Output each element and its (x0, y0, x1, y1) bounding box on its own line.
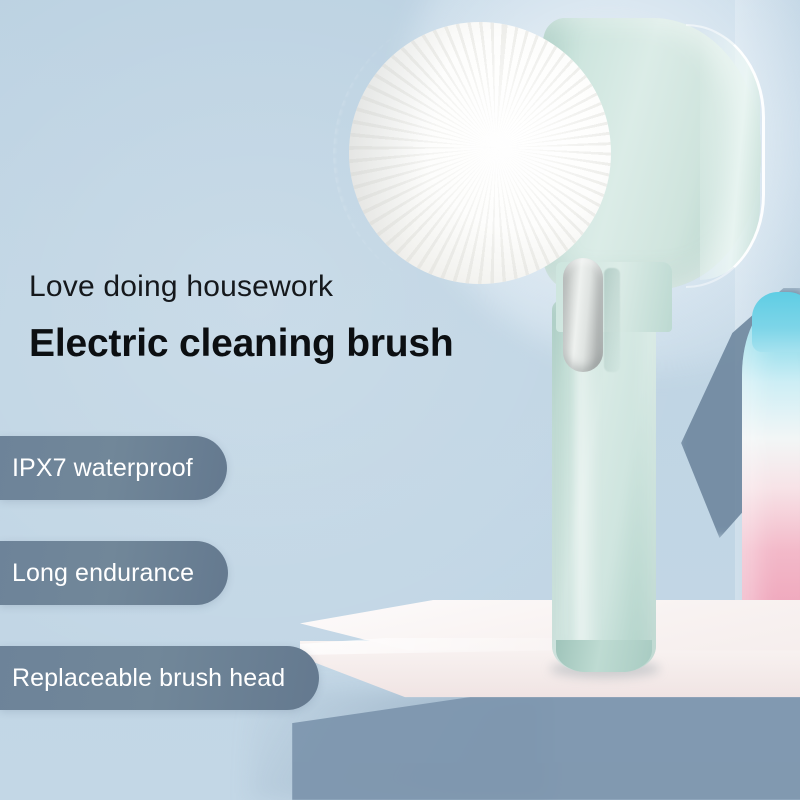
feature-pill-replaceable-head: Replaceable brush head (0, 646, 319, 710)
motor-housing-rim-light (686, 24, 765, 288)
feature-pill-label: IPX7 waterproof (12, 454, 193, 483)
eyebrow-text: Love doing housework (29, 270, 333, 304)
feature-pill-label: Replaceable brush head (12, 664, 285, 693)
chrome-power-button[interactable] (563, 258, 603, 372)
handle-foot (556, 640, 652, 672)
page-title: Electric cleaning brush (29, 322, 454, 366)
brush-head-shading (349, 22, 611, 284)
feature-pill-endurance: Long endurance (0, 541, 228, 605)
feature-pill-waterproof: IPX7 waterproof (0, 436, 227, 500)
feature-pill-label: Long endurance (12, 559, 194, 588)
neck-seam (604, 268, 620, 372)
product-poster: Love doing housework Electric cleaning b… (0, 0, 800, 800)
